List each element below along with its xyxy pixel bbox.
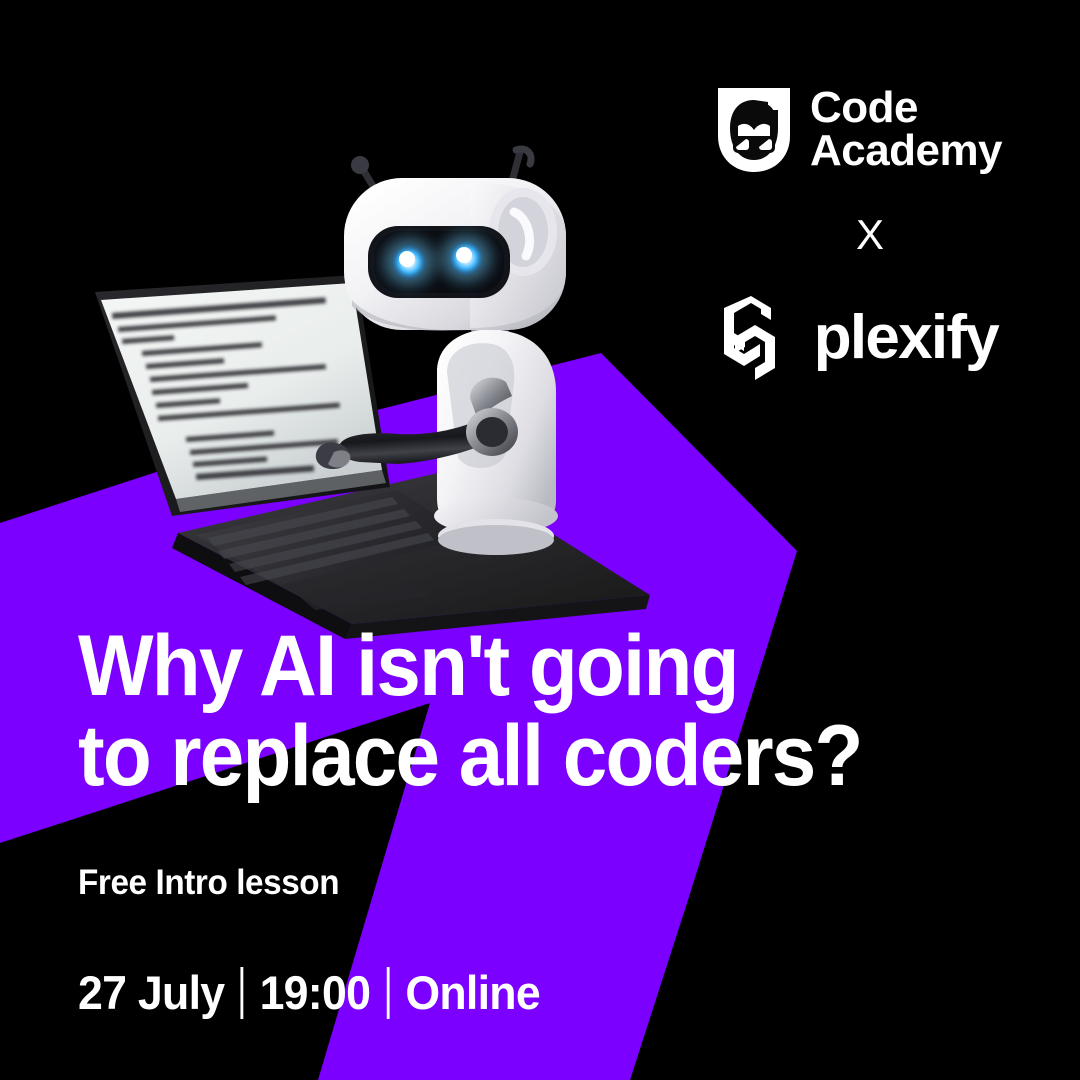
event-location: Online [405, 969, 540, 1016]
shield-face-glasses-icon [716, 86, 792, 174]
brand-lockup: Code Academy X plexify [672, 86, 1002, 384]
lesson-kicker: Free Intro lesson [78, 865, 914, 900]
separator-2 [386, 967, 389, 1019]
poster-canvas: Code Academy X plexify Why AI isn't goin… [0, 0, 1080, 1080]
interlocking-hexagon-icon [714, 292, 792, 384]
code-academy-logo[interactable]: Code Academy [716, 86, 1002, 174]
collaboration-x-symbol: X [856, 214, 884, 256]
plexify-wordmark: plexify [814, 307, 998, 369]
page-title: Why AI isn't going to replace all coders… [78, 622, 896, 801]
poster-copy: Why AI isn't going to replace all coders… [78, 622, 958, 1018]
plexify-logo[interactable]: plexify [714, 292, 998, 384]
event-date: 27 July [78, 969, 224, 1016]
separator-1 [241, 967, 244, 1019]
event-details: 27 July 19:00 Online [78, 966, 914, 1018]
event-time: 19:00 [260, 969, 371, 1016]
code-academy-wordmark: Code Academy [810, 87, 1002, 172]
